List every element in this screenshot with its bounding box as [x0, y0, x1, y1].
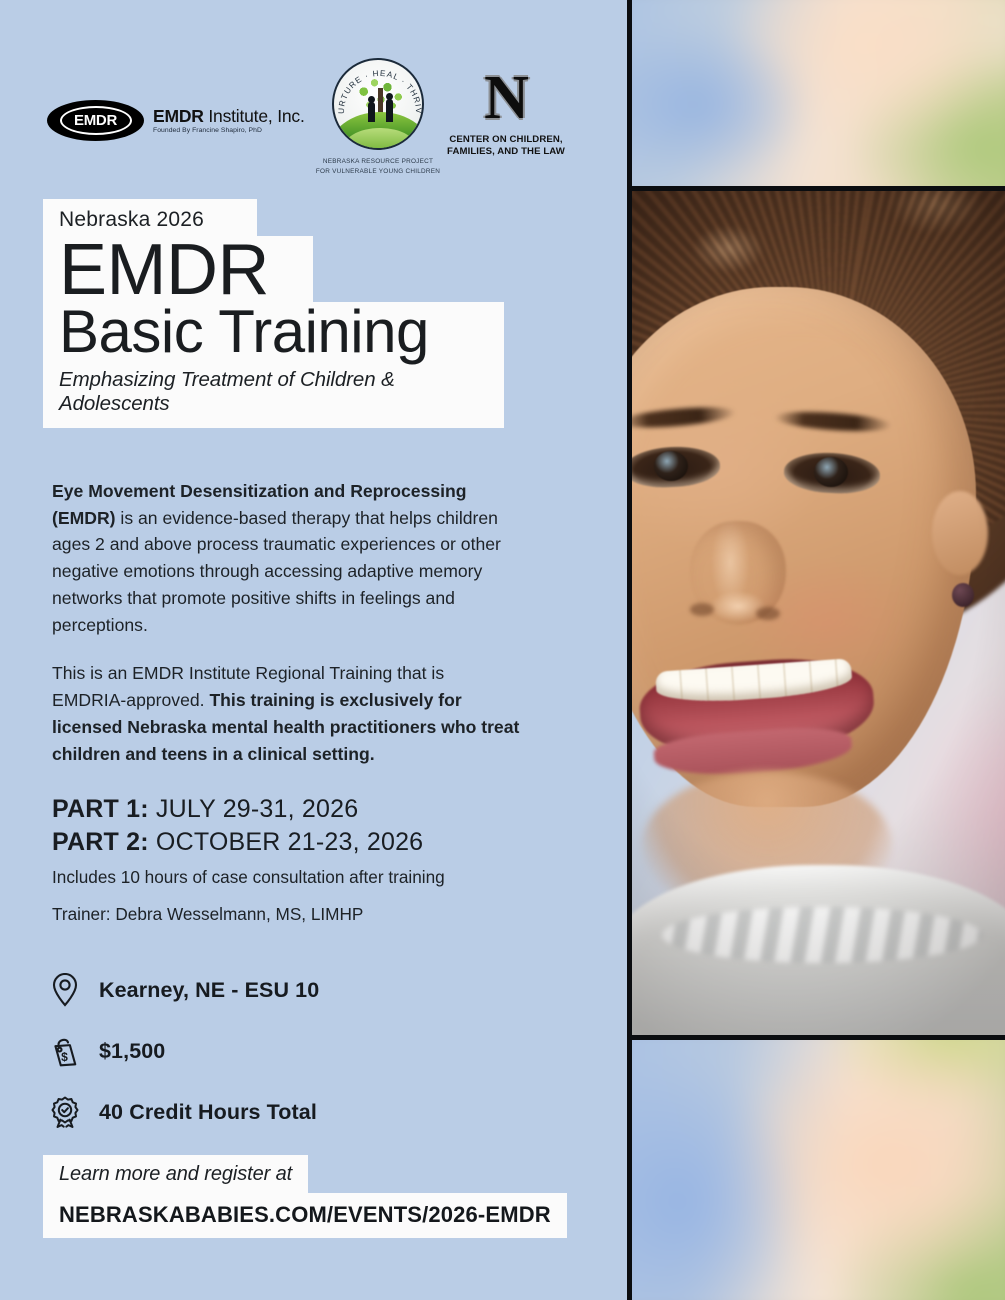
- emdr-institute-name: EMDR Institute, Inc.: [153, 107, 305, 125]
- blurred-background: [632, 1040, 1005, 1300]
- ccfl-caption: CENTER ON CHILDREN, FAMILIES, AND THE LA…: [436, 134, 576, 159]
- nebraska-resource-project-logo: NURTURE · HEAL · THRIVE NEBRASKA RESOURC…: [298, 58, 458, 176]
- part-2-line: PART 2: OCTOBER 21-23, 2026: [52, 826, 522, 859]
- call-to-action: Learn more and register at NEBRASKABABIE…: [43, 1155, 567, 1238]
- registration-url[interactable]: NEBRASKABABIES.COM/EVENTS/2026-EMDR: [43, 1193, 567, 1238]
- price-tag-icon: $: [48, 1034, 82, 1068]
- emdr-name-bold: EMDR: [153, 106, 204, 126]
- part-1-value: JULY 29-31, 2026: [149, 795, 359, 823]
- child-silhouette-icon: [368, 102, 375, 122]
- cta-lead-text: Learn more and register at: [43, 1155, 308, 1193]
- unl-ccfl-logo: N CENTER ON CHILDREN, FAMILIES, AND THE …: [436, 70, 576, 159]
- page-title: EMDR: [59, 236, 313, 306]
- emdr-mark-text: EMDR: [60, 106, 132, 135]
- page-subtitle-large: Basic Training: [59, 302, 504, 362]
- map-pin-icon: [48, 973, 82, 1007]
- title-line2-panel: Basic Training Emphasizing Treatment of …: [43, 302, 504, 428]
- content-column: EMDR EMDR Institute, Inc. Founded By Fra…: [0, 0, 627, 1300]
- photo-column: [627, 0, 1005, 1300]
- fact-location-label: Kearney, NE - ESU 10: [99, 978, 319, 1003]
- paragraph-1-rest: is an evidence-based therapy that helps …: [52, 508, 501, 635]
- fact-price-label: $1,500: [99, 1039, 165, 1064]
- child-portrait-image: [632, 191, 1005, 1035]
- paragraph-1: Eye Movement Desensitization and Reproce…: [52, 478, 522, 638]
- portrait-vignette: [632, 191, 1005, 1035]
- svg-text:$: $: [61, 1050, 68, 1064]
- nrp-caption-line1: NEBRASKA RESOURCE PROJECT: [298, 157, 458, 167]
- paragraph-2: This is an EMDR Institute Regional Train…: [52, 660, 522, 767]
- flyer-page: EMDR EMDR Institute, Inc. Founded By Fra…: [0, 0, 1005, 1300]
- ccfl-caption-line2: FAMILIES, AND THE LAW: [436, 146, 576, 158]
- tree-emblem-icon: NURTURE · HEAL · THRIVE: [332, 58, 424, 150]
- part-1-label: PART 1:: [52, 795, 149, 823]
- award-badge-icon: [48, 1095, 82, 1129]
- nebraska-n-mark-icon: N: [436, 70, 576, 127]
- emdr-institute-wordmark: EMDR Institute, Inc. Founded By Francine…: [153, 107, 305, 135]
- title-line1-panel: EMDR: [43, 236, 313, 306]
- part-1-line: PART 1: JULY 29-31, 2026: [52, 793, 522, 826]
- consultation-note: Includes 10 hours of case consultation a…: [52, 867, 522, 888]
- dates-block: PART 1: JULY 29-31, 2026 PART 2: OCTOBER…: [52, 793, 522, 925]
- emdr-institute-logo: EMDR EMDR Institute, Inc. Founded By Fra…: [47, 100, 305, 141]
- emdr-institute-tagline: Founded By Francine Shapiro, PhD: [153, 127, 305, 134]
- ccfl-caption-line1: CENTER ON CHILDREN,: [436, 134, 576, 146]
- nrp-caption-line2: FOR VULNERABLE YOUNG CHILDREN: [298, 167, 458, 177]
- emdr-name-rest: Institute, Inc.: [204, 106, 305, 126]
- trainer-name: Trainer: Debra Wesselmann, MS, LIMHP: [52, 904, 522, 925]
- fact-credit-hours: 40 Credit Hours Total: [48, 1082, 518, 1142]
- facts-list: Kearney, NE - ESU 10 $ $1,500: [48, 960, 518, 1142]
- logo-bar: EMDR EMDR Institute, Inc. Founded By Fra…: [43, 58, 573, 183]
- child-silhouette-icon: [386, 99, 393, 122]
- fact-location: Kearney, NE - ESU 10: [48, 960, 518, 1020]
- blurred-background: [632, 0, 1005, 186]
- photo-band-bottom: [632, 1040, 1005, 1300]
- part-2-label: PART 2:: [52, 828, 149, 856]
- photo-main-portrait: [632, 191, 1005, 1035]
- emdr-oval-mark-icon: EMDR: [47, 100, 144, 141]
- child-head-icon: [368, 96, 375, 103]
- description-text: Eye Movement Desensitization and Reproce…: [52, 478, 522, 767]
- child-head-icon: [386, 93, 393, 100]
- fact-credit-hours-label: 40 Credit Hours Total: [99, 1100, 317, 1125]
- photo-band-top: [632, 0, 1005, 186]
- part-2-value: OCTOBER 21-23, 2026: [149, 828, 424, 856]
- nrp-caption: NEBRASKA RESOURCE PROJECT FOR VULNERABLE…: [298, 157, 458, 176]
- fact-price: $ $1,500: [48, 1021, 518, 1081]
- title-subtitle: Emphasizing Treatment of Children & Adol…: [59, 368, 504, 416]
- title-block: Nebraska 2026 EMDR Basic Training Emphas…: [43, 199, 504, 428]
